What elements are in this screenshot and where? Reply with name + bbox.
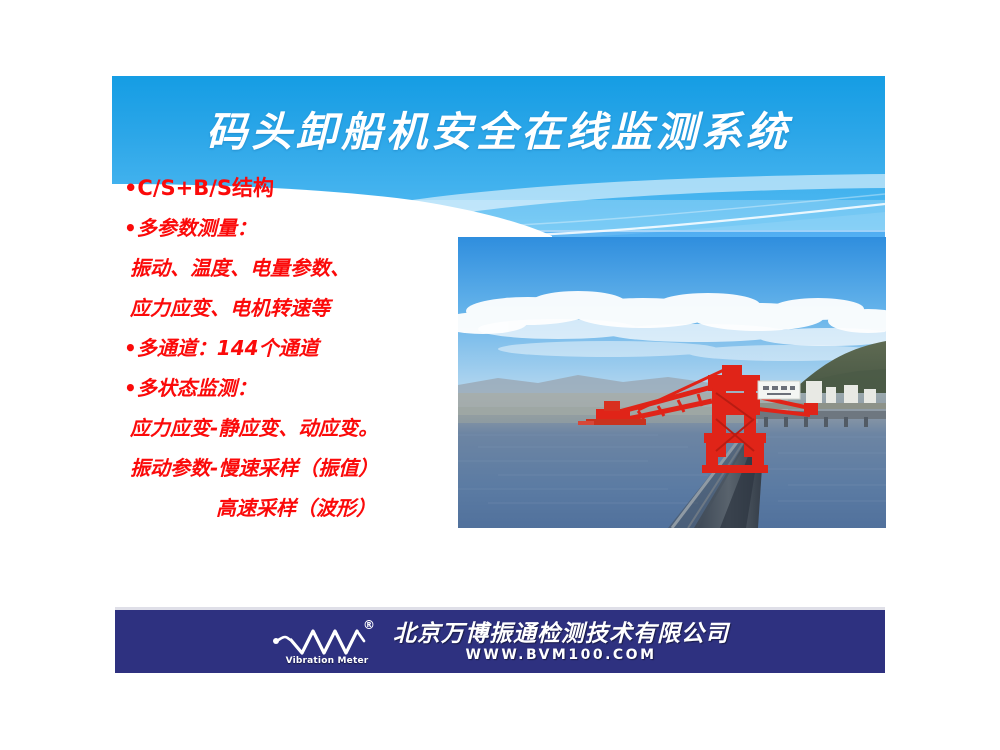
bullet-line-7: 应力应变-静应变、动应变。 <box>124 408 464 448</box>
company-website-url[interactable]: WWW.BVM100.COM <box>465 647 656 664</box>
bullet-line-4: 应力应变、电机转速等 <box>124 288 464 328</box>
bullet-line-2: •多参数测量： <box>124 208 464 248</box>
bullet-line-1: •C/S+B/S结构 <box>124 168 464 208</box>
company-name-cn: 北京万博振通检测技术有限公司 <box>393 621 729 647</box>
vibration-meter-logo-icon: ® Vibration Meter <box>271 619 379 667</box>
logo-subtitle: Vibration Meter <box>277 656 377 666</box>
bullet-list: •C/S+B/S结构 •多参数测量： 振动、温度、电量参数、 应力应变、电机转速… <box>124 168 464 528</box>
registered-trademark-icon: ® <box>363 619 375 631</box>
bullet-line-6: •多状态监测： <box>124 368 464 408</box>
slide-canvas: 码头卸船机安全在线监测系统 •C/S+B/S结构 •多参数测量： 振动、温度、电… <box>0 0 1000 750</box>
footer-bar: ® Vibration Meter 北京万博振通检测技术有限公司 WWW.BVM… <box>115 607 885 673</box>
bullet-line-3: 振动、温度、电量参数、 <box>124 248 464 288</box>
page-title: 码头卸船机安全在线监测系统 <box>112 98 885 158</box>
bullet-line-8: 振动参数-慢速采样（振值） <box>124 448 464 488</box>
bullet-line-5: •多通道：144个通道 <box>124 328 464 368</box>
crane-photo-illustration <box>458 237 886 528</box>
crane-photo <box>458 237 886 528</box>
bullet-line-9: 高速采样（波形） <box>124 488 464 528</box>
